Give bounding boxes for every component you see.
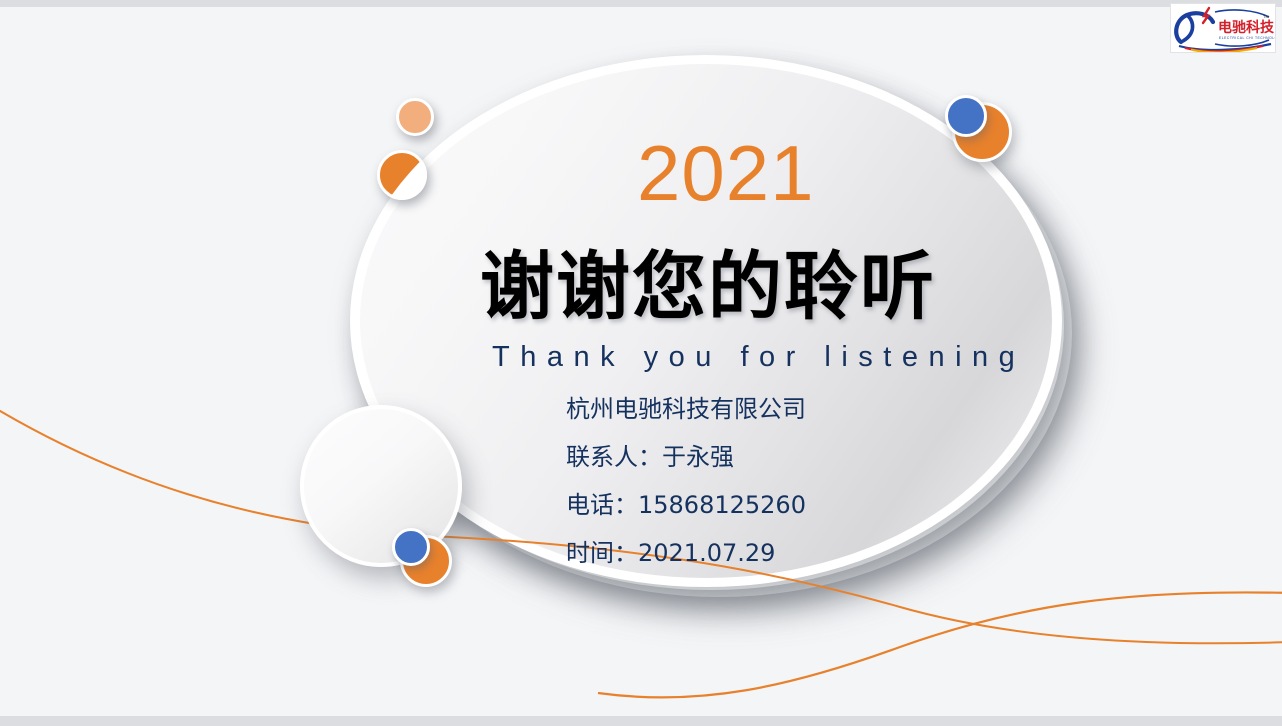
company-logo-icon: 电驰科技 ELECTRICAL CHI TECHNOLOGY TM bbox=[1171, 4, 1275, 52]
svg-text:ELECTRICAL CHI TECHNOLOGY: ELECTRICAL CHI TECHNOLOGY bbox=[1219, 36, 1275, 40]
contact-phone: 电话：15868125260 bbox=[566, 488, 806, 522]
headline-english: Thank you for listening bbox=[492, 343, 1025, 372]
company-logo: 电驰科技 ELECTRICAL CHI TECHNOLOGY TM bbox=[1170, 3, 1276, 53]
contact-date: 时间：2021.07.29 bbox=[566, 536, 806, 570]
presentation-slide: 2021 谢谢您的聆听 Thank you for listening 杭州电驰… bbox=[0, 0, 1282, 726]
svg-text:电驰科技: 电驰科技 bbox=[1218, 19, 1275, 36]
headline-chinese: 谢谢您的聆听 bbox=[480, 250, 936, 324]
window-bottom-bar bbox=[0, 716, 1282, 726]
contact-block: 杭州电驰科技有限公司 联系人：于永强 电话：15868125260 时间：202… bbox=[566, 392, 806, 584]
year-label: 2021 bbox=[0, 134, 1282, 212]
contact-person: 联系人：于永强 bbox=[566, 440, 806, 474]
slide-content: 2021 谢谢您的聆听 Thank you for listening 杭州电驰… bbox=[0, 7, 1282, 716]
slide-canvas: 2021 谢谢您的聆听 Thank you for listening 杭州电驰… bbox=[0, 7, 1282, 716]
svg-text:TM: TM bbox=[1263, 14, 1269, 19]
window-top-bar bbox=[0, 0, 1282, 7]
contact-company: 杭州电驰科技有限公司 bbox=[566, 392, 806, 426]
